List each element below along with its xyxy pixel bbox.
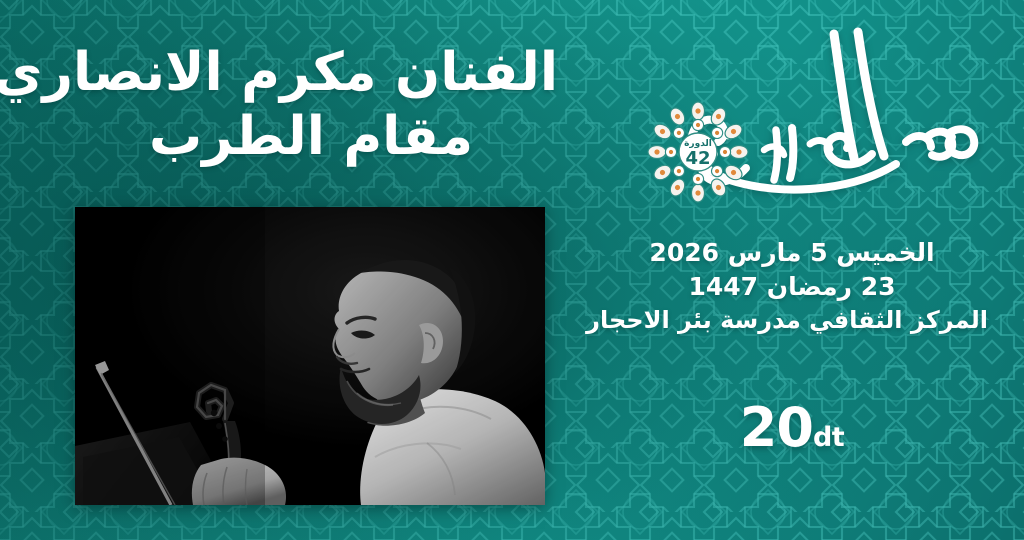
musician-violin-photo <box>75 207 545 505</box>
rosette-edition-number: 42 <box>685 148 710 169</box>
event-date-gregorian: الخميس 5 مارس 2026 <box>596 236 988 270</box>
festival-logo: الدورة 42 <box>596 18 988 218</box>
event-poster: الفنان مكرم الانصاري مقام الطرب <box>0 0 1024 540</box>
event-date-hijri: 23 رمضان 1447 <box>596 270 988 304</box>
ornamental-rosette-icon: الدورة 42 <box>646 100 750 204</box>
event-details: الخميس 5 مارس 2026 23 رمضان 1447 المركز … <box>596 236 988 337</box>
ticket-price: 20dt <box>596 396 988 459</box>
title-line-show: مقام الطرب <box>64 110 558 164</box>
price-amount: 20 <box>740 396 813 459</box>
price-currency: dt <box>813 422 844 453</box>
artist-photo <box>75 207 545 505</box>
title-line-artist: الفنان مكرم الانصاري <box>64 46 558 100</box>
poster-title: الفنان مكرم الانصاري مقام الطرب <box>64 46 558 164</box>
event-venue: المركز الثقافي مدرسة بئر الاحجار <box>596 304 988 337</box>
